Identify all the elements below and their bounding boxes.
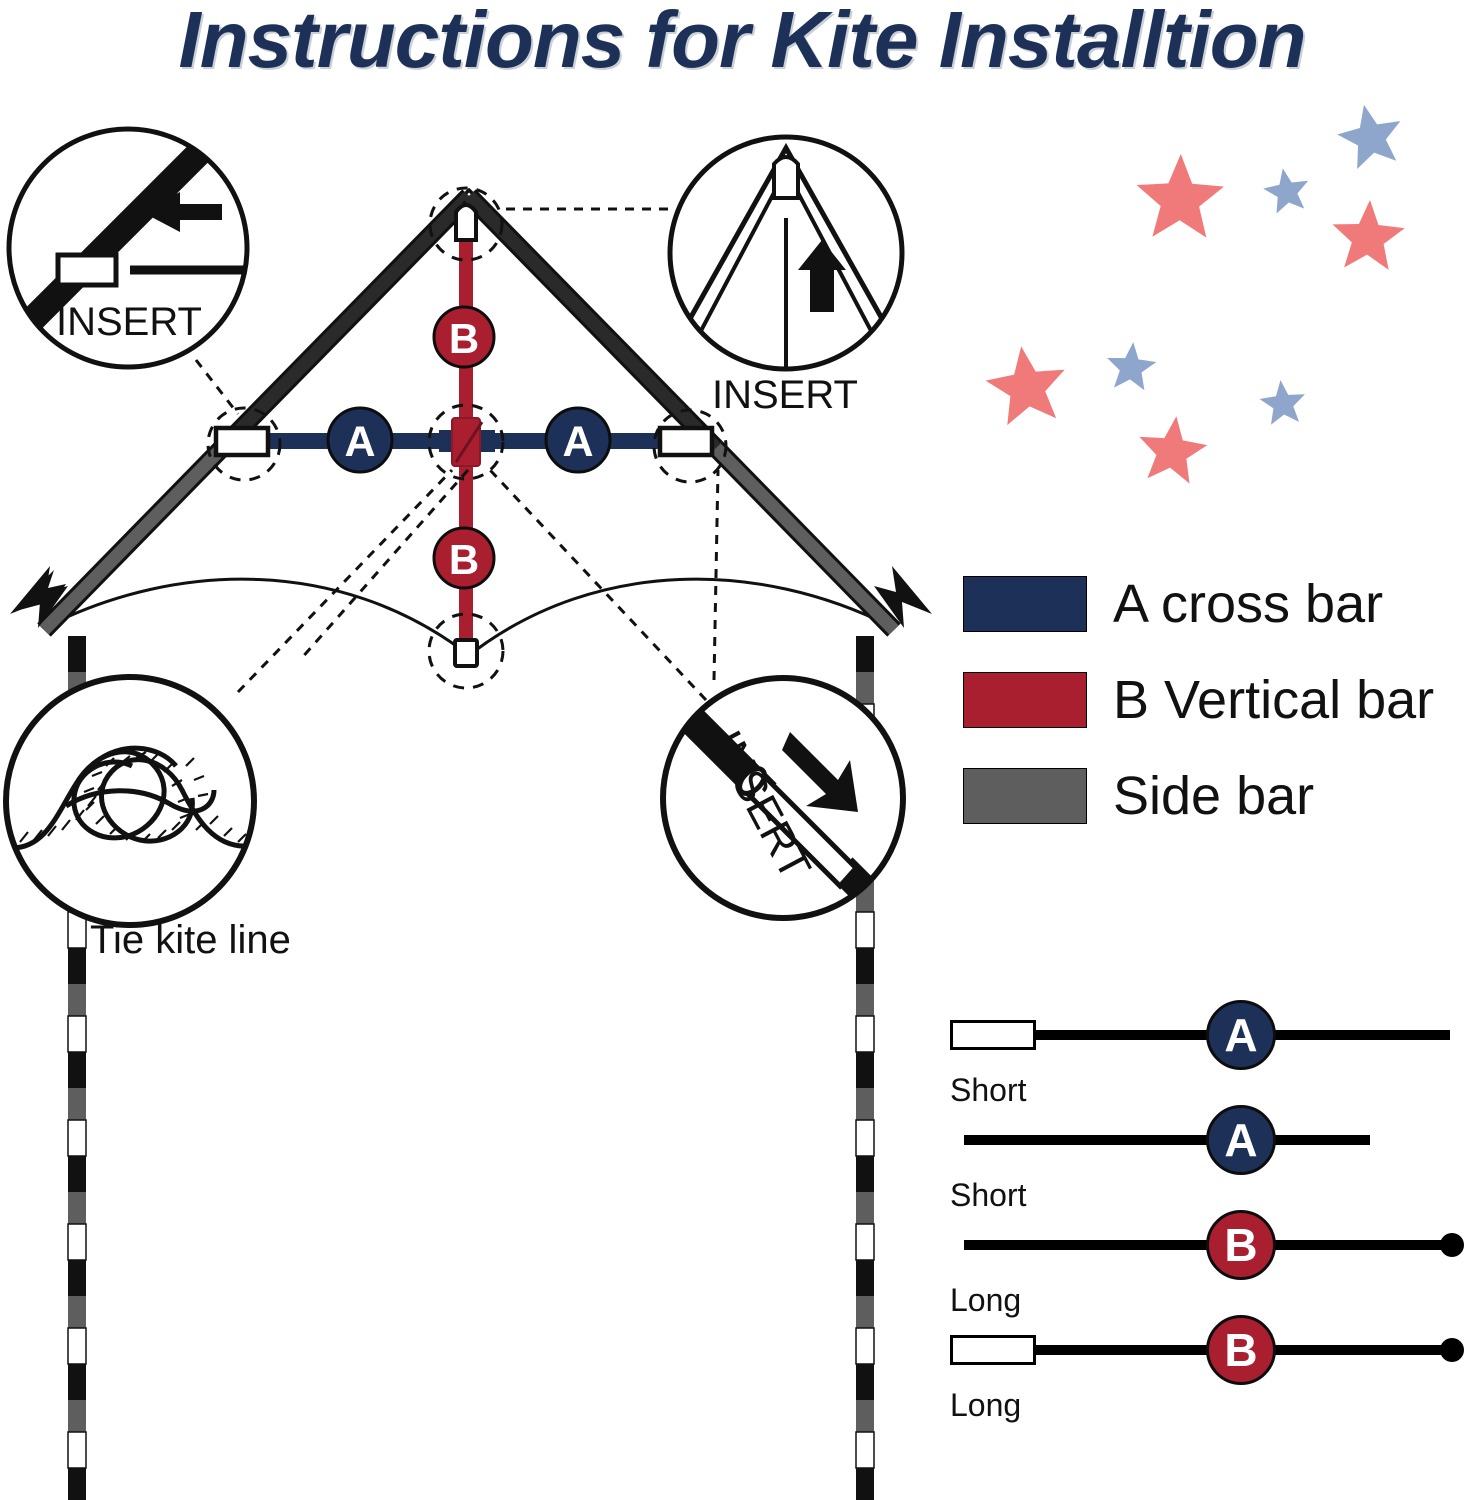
legend-label-b-vertical-bar: B Vertical bar	[1113, 673, 1434, 727]
part-row: AShort	[950, 1000, 1484, 1105]
part-ball-end	[1440, 1338, 1464, 1362]
part-badge-b: B	[1206, 1210, 1276, 1280]
part-rod	[964, 1135, 1370, 1145]
legend-swatch-a-cross-bar	[963, 576, 1087, 632]
badge-a-left: A	[328, 408, 392, 472]
legend-swatch-side-bar	[963, 768, 1087, 824]
callout-tie-kite-line-label: Tie kite line	[90, 918, 291, 963]
legend-item-a-cross-bar: A cross bar	[963, 556, 1483, 652]
legend-item-b-vertical-bar: B Vertical bar	[963, 652, 1483, 748]
part-ball-end	[1440, 1233, 1464, 1257]
legend-label-side-bar: Side bar	[1113, 769, 1314, 823]
legend-item-side-bar: Side bar	[963, 748, 1483, 844]
parts-list: AShortAShortBLongBLong	[950, 1000, 1484, 1420]
decorative-stars	[982, 98, 1409, 485]
legend-swatch-b-vertical-bar	[963, 672, 1087, 728]
badge-a-right: A	[546, 408, 610, 472]
legend-label-a-cross-bar: A cross bar	[1113, 577, 1383, 631]
part-size-label: Long	[950, 1387, 1021, 1424]
svg-text:B: B	[449, 315, 479, 362]
part-badge-a: A	[1206, 1000, 1276, 1070]
star-icon	[1330, 198, 1406, 270]
star-icon	[1135, 412, 1211, 485]
callout-tl-insert-label: INSERT	[56, 300, 202, 345]
callout-tr-insert-label: INSERT	[712, 373, 858, 418]
part-size-label: Short	[950, 1072, 1026, 1109]
svg-text:B: B	[449, 536, 479, 583]
part-ferrule	[950, 1335, 1036, 1365]
part-row: BLong	[950, 1210, 1484, 1315]
ferrule-right	[660, 428, 712, 455]
star-icon	[982, 341, 1072, 427]
legend: A cross bar B Vertical bar Side bar	[963, 556, 1483, 844]
star-icon	[1136, 153, 1225, 238]
part-row: AShort	[950, 1105, 1484, 1210]
star-icon	[1258, 378, 1308, 426]
ferrule-icon	[58, 255, 116, 285]
part-row: BLong	[950, 1315, 1484, 1420]
kite-instructions-page: Instructions for Kite Installtion	[0, 0, 1484, 1500]
part-ferrule	[950, 1020, 1036, 1050]
part-size-label: Long	[950, 1282, 1021, 1319]
part-badge-b: B	[1206, 1315, 1276, 1385]
star-icon	[1260, 164, 1312, 215]
ferrule-left	[216, 428, 268, 455]
callout-tie-kite-line	[6, 677, 254, 925]
badge-b-bottom: B	[434, 528, 494, 588]
part-badge-a: A	[1206, 1105, 1276, 1175]
star-icon	[1332, 98, 1408, 172]
badge-b-top: B	[434, 307, 494, 367]
part-size-label: Short	[950, 1177, 1026, 1214]
svg-text:A: A	[562, 418, 593, 466]
star-icon	[1105, 340, 1158, 391]
svg-text:A: A	[344, 418, 375, 466]
callout-insert-top-right	[660, 137, 912, 378]
